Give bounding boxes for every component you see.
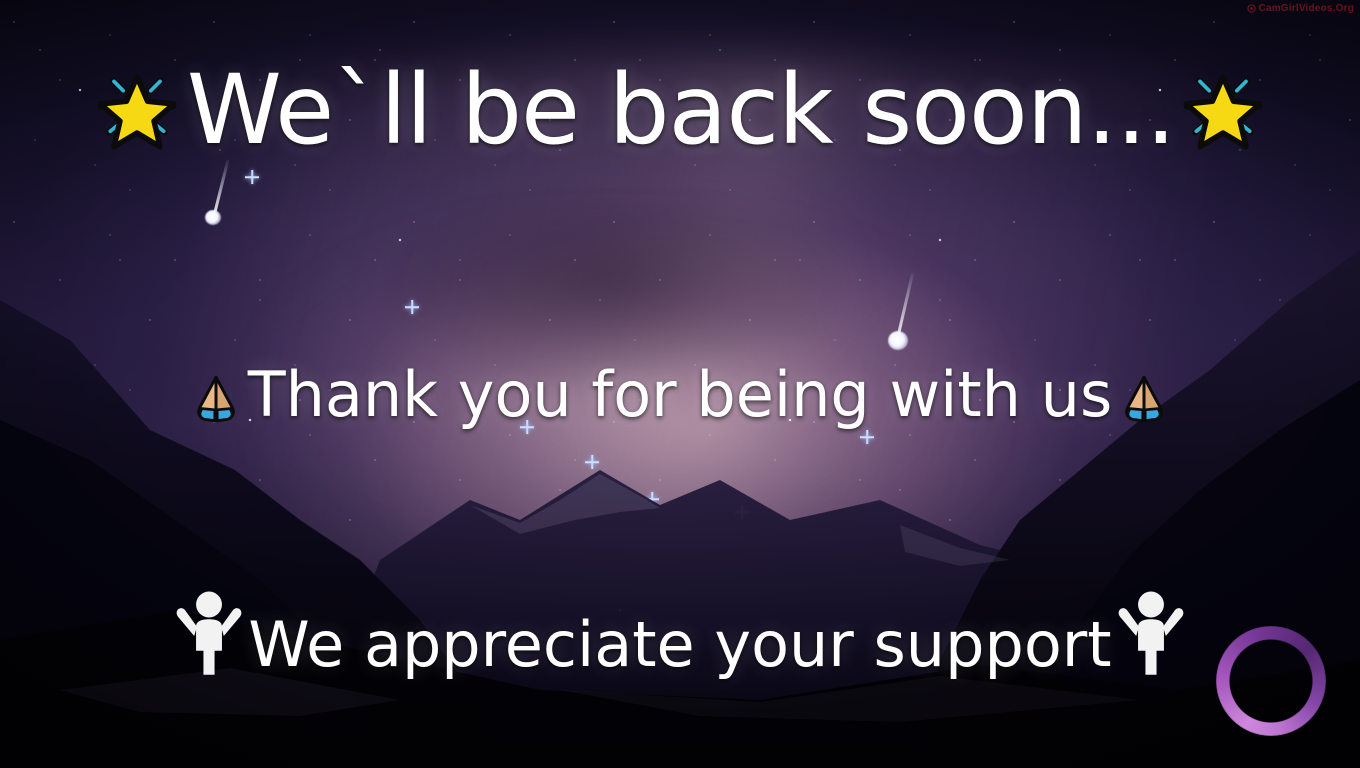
headline-text: We`ll be back soon... bbox=[187, 55, 1175, 165]
glowing-star-icon bbox=[1177, 64, 1269, 156]
person-raising-hands-icon bbox=[172, 586, 246, 676]
folded-hands-icon bbox=[1114, 369, 1174, 429]
watermark-text: CamGirlVideos.Org bbox=[1259, 3, 1354, 14]
footerline-row: We appreciate your support bbox=[0, 600, 1360, 690]
watermark-logo-icon bbox=[1247, 4, 1256, 13]
subline-row: Thank you for being with us bbox=[0, 358, 1360, 432]
headline-row: We`ll be back soon... bbox=[0, 55, 1360, 165]
person-raising-hands-icon bbox=[1114, 586, 1188, 676]
loading-spinner bbox=[1216, 626, 1326, 736]
glowing-star-icon bbox=[91, 64, 183, 156]
maintenance-screen: We`ll be back soon... bbox=[0, 0, 1360, 768]
folded-hands-icon bbox=[186, 369, 246, 429]
footerline-text: We appreciate your support bbox=[248, 608, 1111, 682]
site-watermark: CamGirlVideos.Org bbox=[1247, 3, 1354, 14]
subline-text: Thank you for being with us bbox=[248, 358, 1113, 432]
